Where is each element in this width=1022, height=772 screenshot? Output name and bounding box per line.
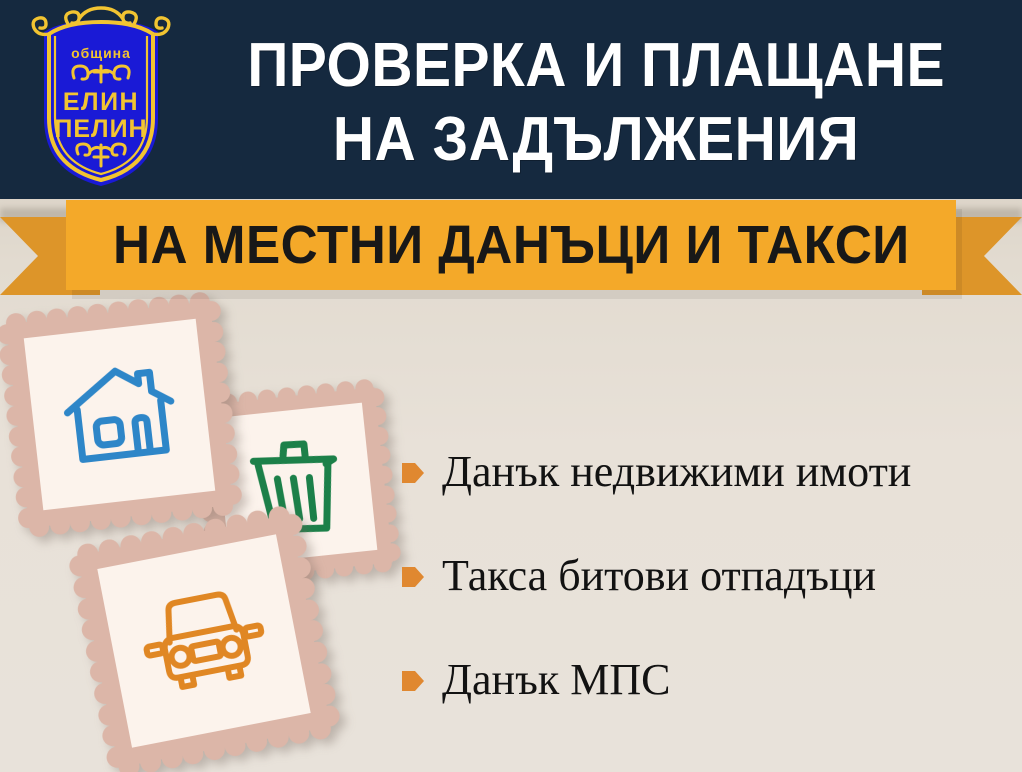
stamp-perforation <box>15 486 37 508</box>
stamp-perforation <box>180 741 205 766</box>
svg-text:ПЕЛИН: ПЕЛИН <box>54 115 147 143</box>
stamp-perforation <box>5 405 27 427</box>
coat-of-arms: община ЕЛИН ПЕЛИН <box>22 6 180 192</box>
list-item-label: Данък МПС <box>442 656 670 704</box>
stamp-perforation <box>89 509 111 531</box>
list-item-label: Такса битови отпадъци <box>442 552 876 600</box>
stamp-perforation <box>370 426 390 446</box>
stamp-perforation <box>49 513 71 535</box>
stamp-perforation <box>315 560 335 580</box>
triangle-bullet-icon <box>402 564 424 590</box>
ribbon-band: НА МЕСТНИ ДАНЪЦИ И ТАКСИ <box>66 200 956 290</box>
stamp-perforation <box>292 576 317 601</box>
page-title-line-1: ПРОВЕРКА И ПЛАЩАНЕ <box>247 29 945 103</box>
stamp-perforation <box>97 537 122 562</box>
stamp-perforation <box>160 525 185 550</box>
stamp-perforation <box>308 661 333 686</box>
stamp-perforation <box>12 466 34 488</box>
stamp-perforation <box>202 321 224 343</box>
stamp-perforation <box>244 729 269 754</box>
stamp-perforation <box>312 682 337 707</box>
stamp-perforation <box>277 387 297 407</box>
header-title-block: ПРОВЕРКА И ПЛАЩАНЕ НА ЗАДЪЛЖЕНИЯ <box>186 18 1006 188</box>
stamp-perforation <box>265 724 290 749</box>
header-banner: община ЕЛИН ПЕЛИН ПРОВЕРКА <box>0 0 1022 199</box>
stamp-perforation <box>257 389 277 409</box>
stamp-perforation <box>335 380 355 400</box>
stamp-perforation <box>107 300 129 322</box>
stamp-perforation <box>296 385 316 405</box>
subtitle-ribbon: НА МЕСТНИ ДАНЪЦИ И ТАКСИ <box>0 196 1022 301</box>
svg-text:община: община <box>71 45 131 61</box>
page-title-line-2: НА ЗАДЪЛЖЕНИЯ <box>333 103 859 177</box>
stamp-perforation <box>316 383 336 403</box>
stamp-perforation <box>0 344 21 366</box>
stamp-perforation <box>26 310 48 332</box>
stamp-perforation <box>204 341 226 363</box>
stamp-perforation <box>287 720 312 745</box>
stamp-real-estate-paper <box>24 319 215 510</box>
list-item-label: Данък недвижими имоти <box>442 448 911 496</box>
list-item[interactable]: Такса битови отпадъци <box>402 524 1012 628</box>
stamp-perforation <box>1 364 23 386</box>
stamp-perforation <box>182 521 207 546</box>
tax-type-list: Данък недвижими имоти Такса битови отпад… <box>402 420 1012 732</box>
stamp-perforation <box>71 575 96 600</box>
coat-of-arms-graphic: община ЕЛИН ПЕЛИН <box>22 6 180 192</box>
stamp-perforation <box>69 511 91 533</box>
stamp-perforation <box>88 660 113 685</box>
stamp-perforation <box>300 619 325 644</box>
stamp-perforation <box>378 504 398 524</box>
stamp-perforation <box>130 504 152 526</box>
triangle-bullet-icon <box>402 460 424 486</box>
triangle-bullet-icon <box>402 668 424 694</box>
stamp-perforation <box>296 597 321 622</box>
stamp-perforation <box>92 681 117 706</box>
stamp-perforation <box>84 639 109 664</box>
stamp-perforation <box>304 640 329 665</box>
car-icon <box>134 581 274 701</box>
stamp-perforation <box>79 617 104 642</box>
stamp-perforation <box>207 361 229 383</box>
stamp-perforation <box>334 558 354 578</box>
stamp-perforation <box>171 499 193 521</box>
stamp-perforation <box>138 749 163 772</box>
stamp-perforation <box>380 523 400 543</box>
stamp-perforation <box>3 384 25 406</box>
list-item[interactable]: Данък МПС <box>402 628 1012 732</box>
stamp-perforation <box>139 529 164 554</box>
stamp-perforation <box>202 737 227 762</box>
stamp-perforation <box>10 446 32 468</box>
stamp-perforation <box>87 303 109 325</box>
stamp-perforation <box>46 307 68 329</box>
stamp-perforation <box>223 733 248 758</box>
stamp-perforation <box>66 305 88 327</box>
stamp-perforation <box>354 555 374 575</box>
stamp-perforation <box>159 745 184 770</box>
stamp-perforation <box>127 298 149 320</box>
stamp-perforation <box>75 596 100 621</box>
stamp-perforation <box>100 724 125 749</box>
house-icon <box>58 356 181 472</box>
stamp-perforation <box>367 407 387 427</box>
stamp-perforation <box>372 445 392 465</box>
stamp-vehicle <box>77 514 330 767</box>
list-item[interactable]: Данък недвижими имоти <box>402 420 1012 524</box>
svg-text:ЕЛИН: ЕЛИН <box>63 88 139 116</box>
stamp-perforation <box>376 484 396 504</box>
ribbon-label: НА МЕСТНИ ДАНЪЦИ И ТАКСИ <box>113 217 910 273</box>
stamp-perforation <box>118 533 143 558</box>
stamp-perforation <box>374 465 394 485</box>
stamp-perforation <box>96 702 121 727</box>
stamp-real-estate <box>6 301 233 528</box>
stamp-vehicle-paper <box>97 534 310 747</box>
stamp-perforation <box>151 502 173 524</box>
stamp-perforation <box>8 425 30 447</box>
stamp-perforation <box>238 391 258 411</box>
stamp-perforation <box>110 506 132 528</box>
